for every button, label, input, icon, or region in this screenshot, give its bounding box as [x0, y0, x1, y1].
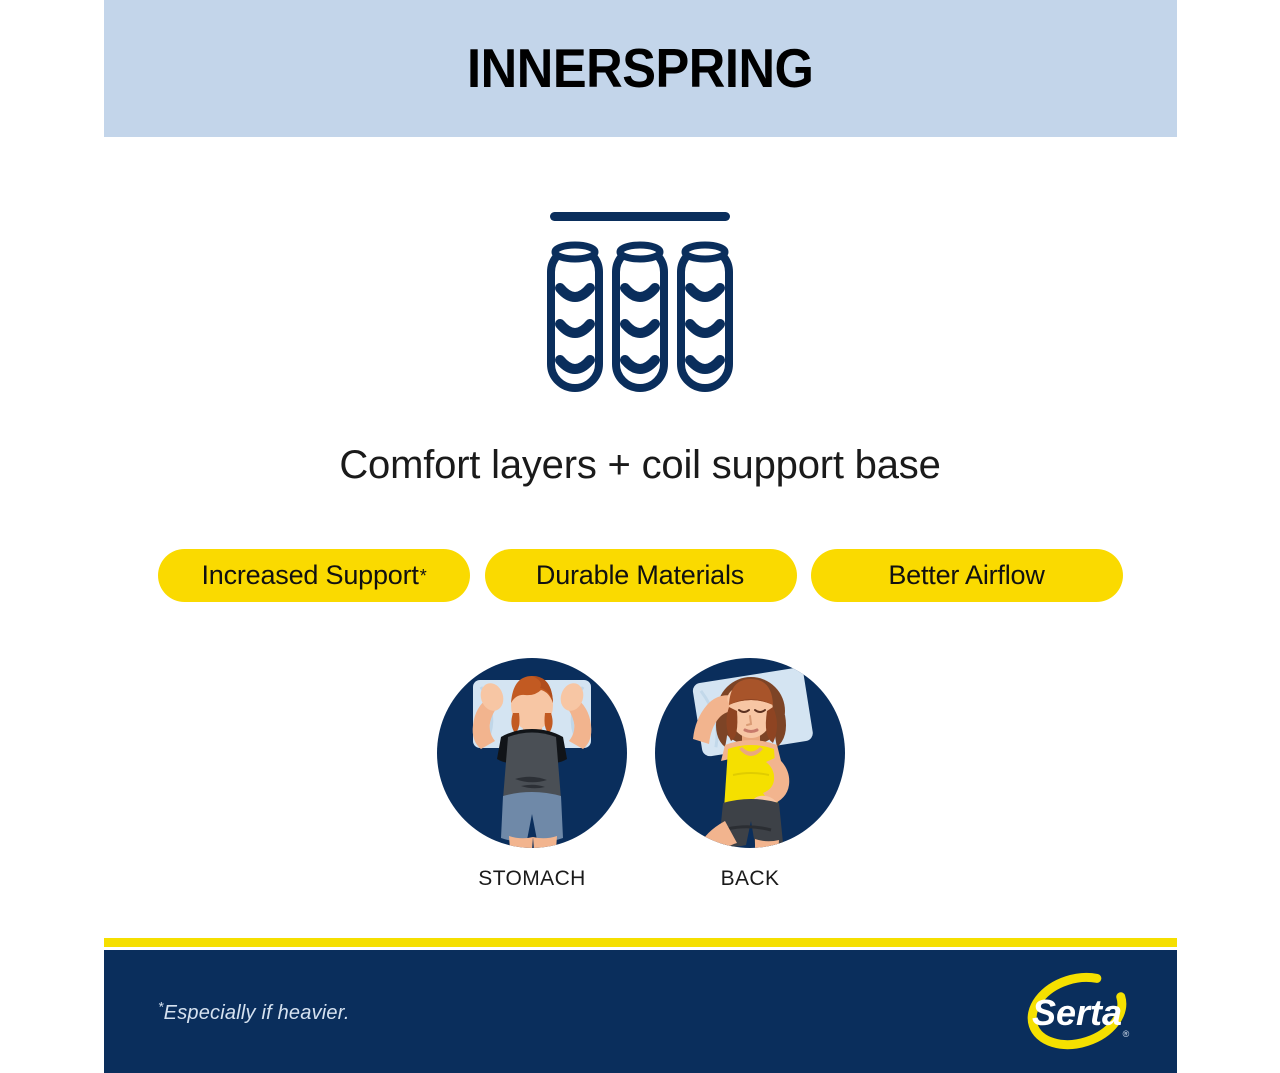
- sleep-position-label: BACK: [655, 867, 845, 891]
- page-title: INNERSPRING: [467, 41, 813, 96]
- sleep-position-back: BACK: [655, 653, 845, 891]
- serta-wordmark: Serta: [1032, 992, 1122, 1033]
- stomach-sleeper-icon: [437, 653, 627, 853]
- footnote: *Especially if heavier.: [158, 1002, 350, 1025]
- footer-divider: [104, 938, 1177, 947]
- benefit-pill-row: Increased Support* Durable Materials Bet…: [158, 549, 1123, 602]
- tagline: Comfort layers + coil support base: [0, 443, 1280, 488]
- sleep-position-stomach: STOMACH: [437, 653, 627, 891]
- footnote-text: Especially if heavier.: [164, 1002, 350, 1024]
- benefit-pill-increased-support[interactable]: Increased Support*: [158, 549, 470, 602]
- infographic-page: INNERSPRING: [0, 0, 1280, 1073]
- header-band: INNERSPRING: [104, 0, 1177, 137]
- sleep-positions: STOMACH: [437, 653, 847, 915]
- footer-band: *Especially if heavier. Serta ®: [104, 950, 1177, 1073]
- sleep-position-label: STOMACH: [437, 867, 627, 891]
- benefit-pill-better-airflow[interactable]: Better Airflow: [811, 549, 1123, 602]
- benefit-pill-durable-materials[interactable]: Durable Materials: [485, 549, 797, 602]
- benefit-pill-label: Increased Support: [201, 560, 418, 591]
- coil-springs-icon: [540, 200, 740, 400]
- serta-logo[interactable]: Serta ®: [1025, 965, 1137, 1057]
- registered-mark: ®: [1123, 1029, 1130, 1039]
- benefit-pill-label: Better Airflow: [888, 560, 1044, 591]
- back-sleeper-icon: [655, 653, 845, 853]
- benefit-pill-label: Durable Materials: [536, 560, 744, 591]
